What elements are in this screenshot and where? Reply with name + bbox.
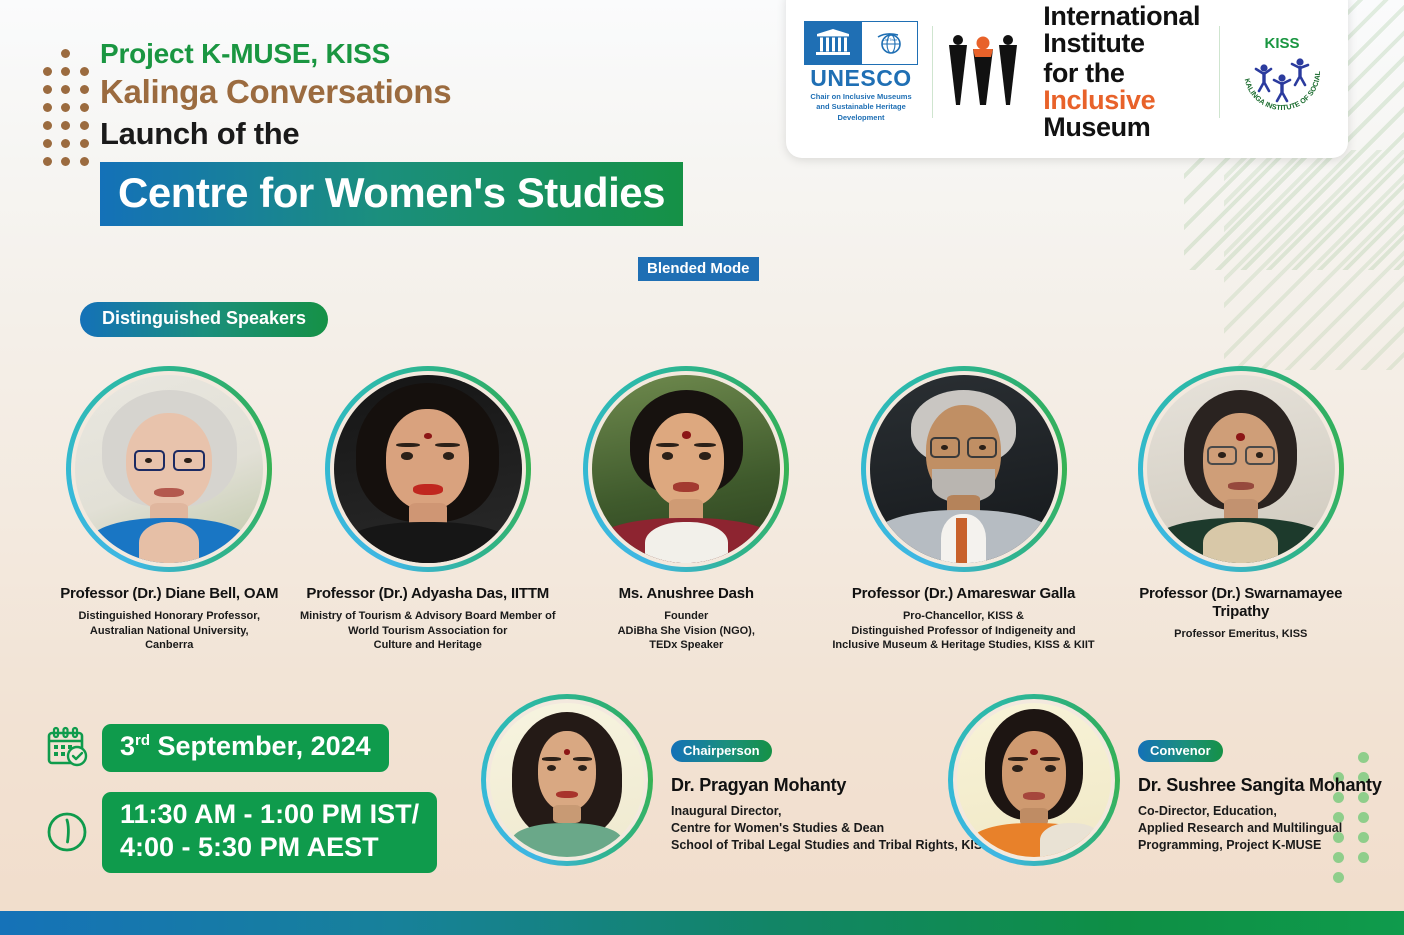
iiim-figures-icon (947, 35, 1033, 109)
event-date-pill: 3rd September, 2024 (102, 724, 389, 772)
event-time-pill: 11:30 AM - 1:00 PM IST/ 4:00 - 5:30 PM A… (102, 792, 437, 873)
calendar-icon (44, 725, 90, 771)
portrait-sushree-sangita-mohanty (957, 703, 1111, 857)
speaker-role: Distinguished Honorary Professor, Austra… (78, 609, 260, 653)
portrait-pragyan-mohanty (490, 703, 644, 857)
speaker-card: Professor (Dr.) Diane Bell, OAM Distingu… (40, 366, 299, 653)
speaker-role: Founder ADiBha She Vision (NGO), TEDx Sp… (618, 609, 755, 653)
avatar (583, 366, 789, 572)
series-line: Kalinga Conversations (100, 71, 800, 114)
chairperson-name: Dr. Pragyan Mohanty (671, 775, 991, 797)
iiim-logo: International Institute for the Inclusiv… (947, 3, 1204, 141)
event-date-rest: September, 2024 (150, 731, 371, 761)
avatar (948, 694, 1120, 866)
blended-mode-badge: Blended Mode (638, 257, 759, 281)
logo-divider-2 (1219, 26, 1220, 118)
project-line: Project K-MUSE, KISS (100, 36, 800, 71)
unesco-wordmark: UNESCO (810, 67, 911, 90)
speaker-name: Professor (Dr.) Swarnamayee Tripathy (1112, 585, 1371, 621)
kiss-acronym-text: KISS (1264, 35, 1299, 52)
avatar (861, 366, 1067, 572)
logo-card: UniTwin UNESCO Chair on Inclusive Museum… (786, 0, 1348, 158)
portrait-amareswar-galla (870, 375, 1058, 563)
event-time-row: 11:30 AM - 1:00 PM IST/ 4:00 - 5:30 PM A… (44, 792, 437, 873)
iiim-line2-inclusive: Inclusive (1043, 85, 1155, 115)
speaker-card: Professor (Dr.) Swarnamayee Tripathy Pro… (1112, 366, 1371, 642)
event-date-day: 3 (120, 731, 135, 761)
unesco-temple-icon (805, 22, 861, 64)
event-date-row: 3rd September, 2024 (44, 724, 437, 772)
avatar (481, 694, 653, 866)
avatar (66, 366, 272, 572)
iiim-line-2: for the Inclusive Museum (1043, 60, 1204, 141)
speaker-card: Professor (Dr.) Amareswar Galla Pro-Chan… (816, 366, 1112, 653)
speaker-role: Professor Emeritus, KISS (1174, 627, 1307, 642)
speaker-role: Ministry of Tourism & Advisory Board Mem… (300, 609, 555, 653)
speaker-name: Professor (Dr.) Diane Bell, OAM (60, 585, 278, 603)
portrait-adyasha-das (334, 375, 522, 563)
iiim-line2-museum: Museum (1043, 112, 1150, 142)
svg-text:UniTwin: UniTwin (883, 37, 897, 42)
unesco-chair-subtitle: Chair on Inclusive Museums and Sustainab… (804, 92, 918, 122)
unesco-logo: UniTwin UNESCO Chair on Inclusive Museum… (804, 21, 918, 122)
clock-icon (44, 809, 90, 855)
convenor-block: Convenor Dr. Sushree Sangita Mohanty Co-… (948, 694, 1382, 866)
bottom-gradient-bar (0, 911, 1404, 935)
diagonal-stripes-decoration-secondary (1224, 150, 1404, 370)
kiss-logo: KISS KALINGA INSTITU (1234, 24, 1330, 120)
event-date-ordinal: rd (135, 732, 150, 749)
avatar (1138, 366, 1344, 572)
speaker-role: Pro-Chancellor, KISS & Distinguished Pro… (832, 609, 1094, 653)
event-poster: UniTwin UNESCO Chair on Inclusive Museum… (0, 0, 1404, 935)
speaker-name: Professor (Dr.) Adyasha Das, IITTM (306, 585, 549, 603)
portrait-diane-bell (75, 375, 263, 563)
speaker-name: Ms. Anushree Dash (619, 585, 754, 603)
avatar (325, 366, 531, 572)
launch-line: Launch of the (100, 114, 800, 154)
chairperson-role: Inaugural Director, Centre for Women's S… (671, 803, 991, 855)
portrait-swarnamayee-tripathy (1147, 375, 1335, 563)
headline-block: Project K-MUSE, KISS Kalinga Conversatio… (100, 36, 800, 226)
brown-dots-decoration (38, 44, 94, 170)
speaker-card: Ms. Anushree Dash Founder ADiBha She Vis… (557, 366, 816, 653)
speaker-card: Professor (Dr.) Adyasha Das, IITTM Minis… (299, 366, 558, 653)
convenor-role: Co-Director, Education, Applied Research… (1138, 803, 1382, 855)
convenor-name: Dr. Sushree Sangita Mohanty (1138, 775, 1382, 797)
convenor-badge: Convenor (1138, 740, 1223, 762)
logo-divider-1 (932, 26, 933, 118)
unitwin-globe-icon: UniTwin (861, 22, 917, 64)
page-title: Centre for Women's Studies (100, 162, 683, 226)
portrait-anushree-dash (592, 375, 780, 563)
chairperson-badge: Chairperson (671, 740, 772, 762)
chairperson-block: Chairperson Dr. Pragyan Mohanty Inaugura… (481, 694, 991, 866)
speakers-row: Professor (Dr.) Diane Bell, OAM Distingu… (40, 366, 1370, 653)
iiim-line2-prefix: for the (1043, 58, 1124, 88)
event-datetime: 3rd September, 2024 11:30 AM - 1:00 PM I… (44, 724, 437, 893)
speaker-name: Professor (Dr.) Amareswar Galla (852, 585, 1075, 603)
distinguished-speakers-badge: Distinguished Speakers (80, 302, 328, 337)
iiim-line-1: International Institute (1043, 3, 1204, 57)
